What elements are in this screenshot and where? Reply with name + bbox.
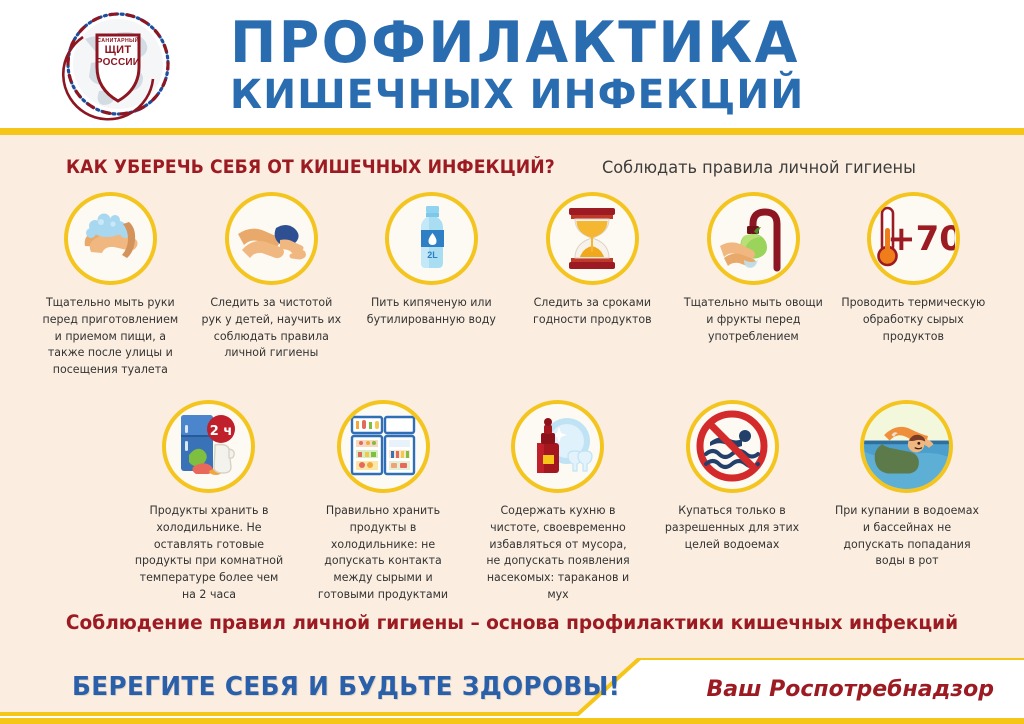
water-bottle-icon: 2L bbox=[385, 192, 478, 285]
question-row: КАК УБЕРЕЧЬ СЕБЯ ОТ КИШЕЧНЫХ ИНФЕКЦИЙ? С… bbox=[0, 135, 1024, 178]
tip-text: Правильно хранить продукты в холодильник… bbox=[307, 502, 459, 603]
tip-text: Тщательно мыть овощи и фрукты перед упот… bbox=[681, 294, 826, 344]
duration-badge-label: 2 ч bbox=[210, 424, 233, 439]
tip-text: Содержать кухню в чистоте, своевременно … bbox=[482, 502, 634, 603]
washing-hands-soap-icon bbox=[64, 192, 157, 285]
tip-text: При купании в водоемах и бассейнах не до… bbox=[831, 502, 983, 569]
tip-text: Пить кипяченую или бутилированную воду bbox=[359, 294, 504, 328]
tip-card-children-hygiene: Следить за чистотой рук у детей, научить… bbox=[191, 192, 352, 361]
content-panel: КАК УБЕРЕЧЬ СЕБЯ ОТ КИШЕЧНЫХ ИНФЕКЦИЙ? С… bbox=[0, 135, 1024, 658]
swimmer-in-water-icon bbox=[860, 400, 953, 493]
footer-signature: Ваш Роспотребнадзор bbox=[707, 677, 994, 702]
tip-text: Проводить термическую обработку сырых пр… bbox=[841, 294, 986, 344]
child-hands-washing-icon bbox=[225, 192, 318, 285]
tip-text: Следить за сроками годности продуктов bbox=[520, 294, 665, 328]
logo-container: САНИТАРНЫЙ ЩИТ РОССИИ bbox=[38, 4, 198, 124]
refrigerator-food-icon: 2 ч bbox=[162, 400, 255, 493]
slogan-text: Соблюдение правил личной гигиены – основ… bbox=[26, 603, 999, 634]
title-line-2: КИШЕЧНЫХ ИНФЕКЦИЙ bbox=[230, 74, 806, 116]
tip-card-separate-raw-cooked: Правильно хранить продукты в холодильник… bbox=[296, 400, 470, 603]
header-divider bbox=[0, 128, 1024, 135]
tip-text: Следить за чистотой рук у детей, научить… bbox=[198, 294, 343, 361]
footer-call-to-action: БЕРЕГИТЕ СЕБЯ И БУДЬТЕ ЗДОРОВЫ! bbox=[72, 672, 620, 702]
tip-card-heat-treatment: +70 Проводить термическую обработку сыры… bbox=[833, 192, 994, 344]
tip-card-wash-produce: Тщательно мыть овощи и фрукты перед упот… bbox=[673, 192, 834, 344]
poster-footer: БЕРЕГИТЕ СЕБЯ И БУДЬТЕ ЗДОРОВЫ! Ваш Росп… bbox=[0, 658, 1024, 724]
cleaning-spray-dishes-icon bbox=[511, 400, 604, 493]
infographic-poster: САНИТАРНЫЙ ЩИТ РОССИИ ПРОФИЛАКТИКА КИШЕЧ… bbox=[0, 0, 1024, 724]
tip-card-store-in-fridge: 2 ч Продукты хранить в холодильнике. Не … bbox=[122, 400, 296, 603]
tips-row-2: 2 ч Продукты хранить в холодильнике. Не … bbox=[0, 378, 1024, 603]
thermometer-icon: +70 bbox=[867, 192, 960, 285]
washing-fruit-tap-icon bbox=[707, 192, 800, 285]
title-line-1: ПРОФИЛАКТИКА bbox=[230, 16, 800, 72]
poster-header: САНИТАРНЫЙ ЩИТ РОССИИ ПРОФИЛАКТИКА КИШЕЧ… bbox=[0, 0, 1024, 128]
tip-card-swim-allowed-places: Купаться только в разрешенных для этих ц… bbox=[645, 400, 819, 552]
bottle-volume-label: 2L bbox=[427, 250, 438, 260]
tip-text: Продукты хранить в холодильнике. Не оста… bbox=[133, 502, 285, 603]
no-swimming-sign-icon bbox=[686, 400, 779, 493]
poster-title: ПРОФИЛАКТИКА КИШЕЧНЫХ ИНФЕКЦИЙ bbox=[230, 12, 818, 116]
hourglass-icon bbox=[546, 192, 639, 285]
question-highlight: КАК УБЕРЕЧЬ СЕБЯ ОТ КИШЕЧНЫХ ИНФЕКЦИЙ? bbox=[66, 157, 555, 178]
open-refrigerator-icon bbox=[337, 400, 430, 493]
tip-card-clean-kitchen: Содержать кухню в чистоте, своевременно … bbox=[471, 400, 645, 603]
tips-row-1: Тщательно мыть руки перед приготовлением… bbox=[0, 178, 1024, 378]
temperature-label: +70 bbox=[887, 219, 955, 259]
tip-text: Купаться только в разрешенных для этих ц… bbox=[656, 502, 808, 552]
tip-card-drink-water: 2L Пить кипяченую или бутилированную вод… bbox=[351, 192, 512, 328]
sanitary-shield-russia-emblem: САНИТАРНЫЙ ЩИТ РОССИИ bbox=[61, 7, 175, 121]
question-answer: Соблюдать правила личной гигиены bbox=[602, 158, 916, 178]
tip-text: Тщательно мыть руки перед приготовлением… bbox=[38, 294, 183, 378]
tip-card-no-water-in-mouth: При купании в водоемах и бассейнах не до… bbox=[820, 400, 994, 569]
tip-card-wash-hands: Тщательно мыть руки перед приготовлением… bbox=[30, 192, 191, 378]
tip-card-expiry-dates: Следить за сроками годности продуктов bbox=[512, 192, 673, 328]
emblem-graphic bbox=[61, 7, 175, 121]
